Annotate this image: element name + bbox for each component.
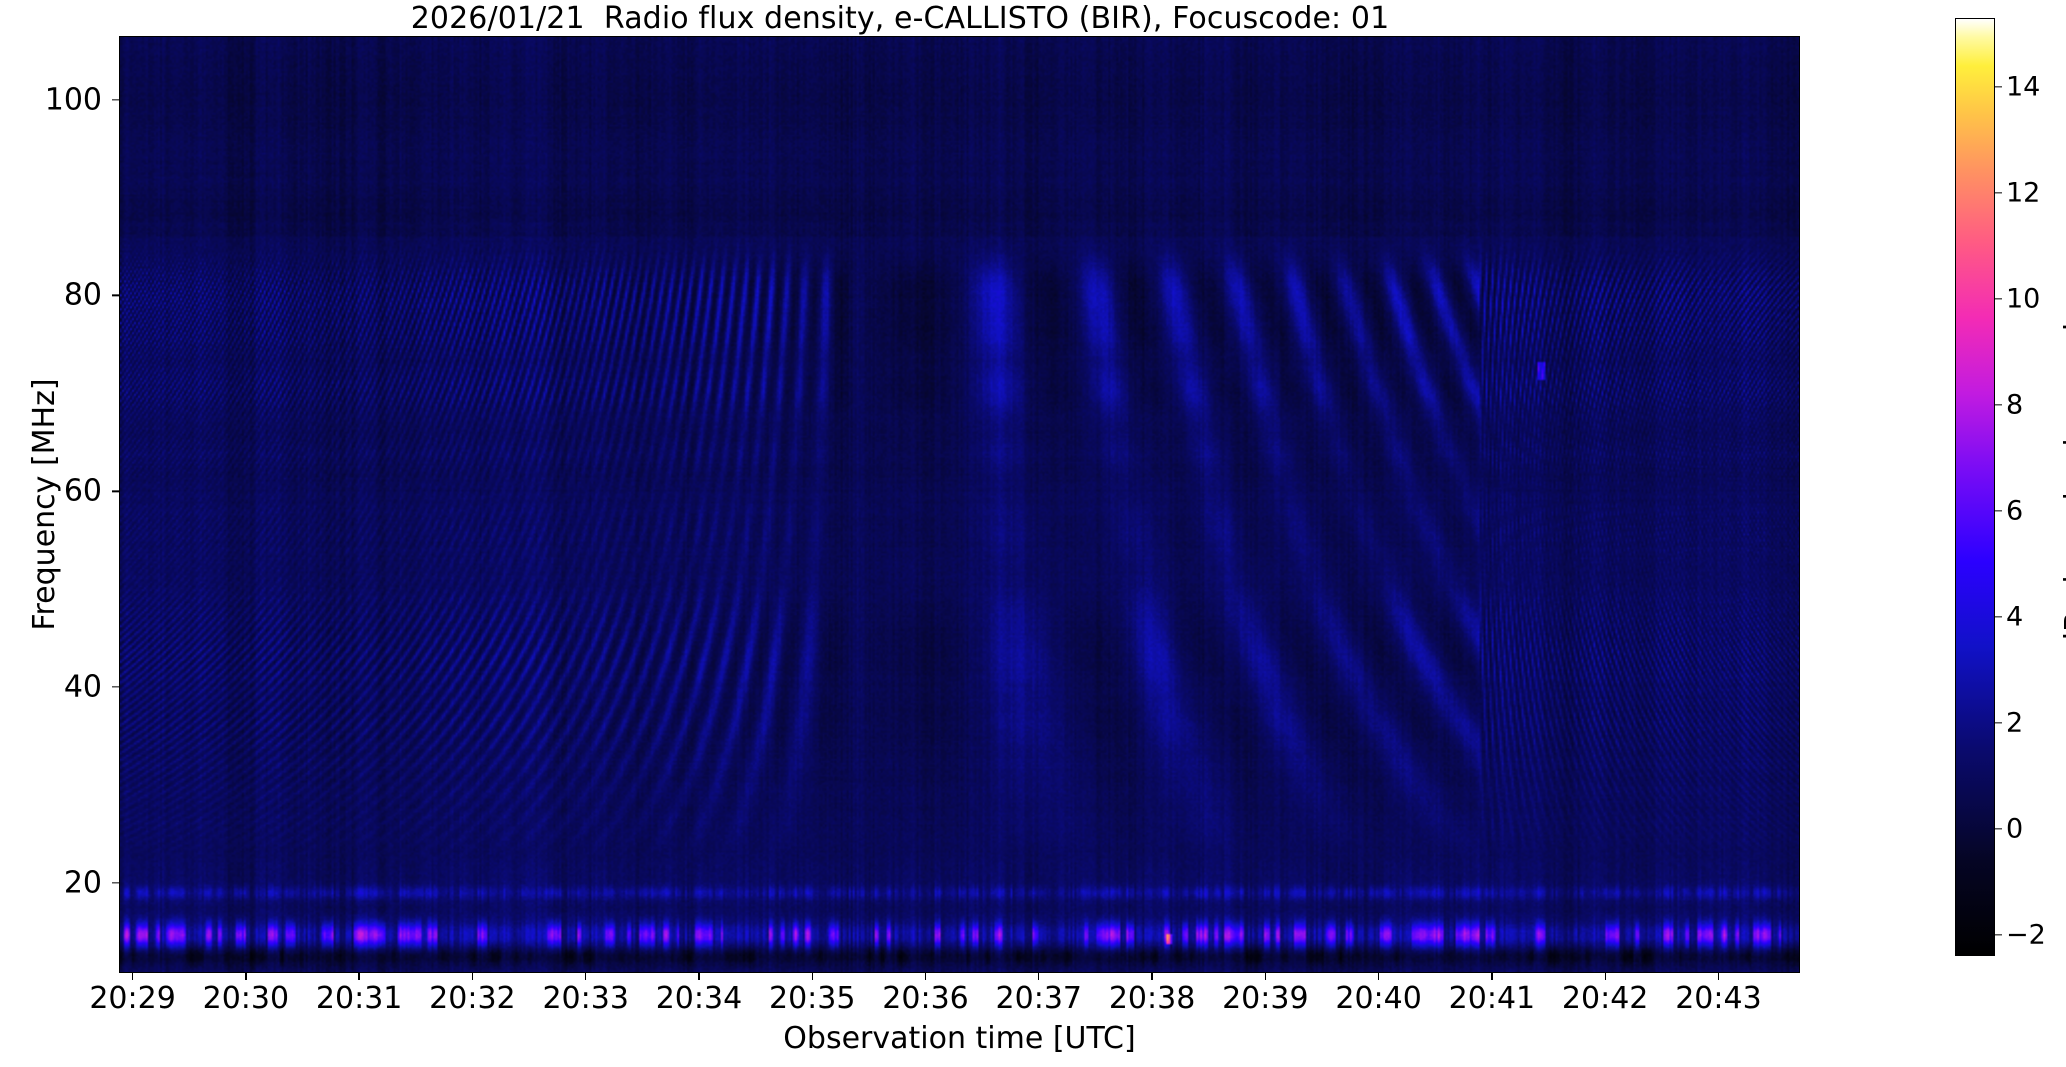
colorbar-tick-mark [1995, 510, 2002, 511]
x-tick-label: 20:41 [1449, 981, 1535, 1016]
y-tick-label: 40 [10, 670, 102, 705]
x-tick-mark [1605, 973, 1606, 980]
page-title: 2026/01/21 Radio flux density, e-CALLIST… [0, 0, 1800, 36]
colorbar-tick-mark [1995, 192, 2002, 193]
x-tick-mark [358, 973, 359, 980]
colorbar-tick-mark [1995, 616, 2002, 617]
x-tick-mark [812, 973, 813, 980]
spectrogram-plot[interactable] [119, 36, 1800, 973]
x-tick-label: 20:34 [656, 981, 742, 1016]
x-tick-label: 20:30 [203, 981, 289, 1016]
y-tick-mark [112, 491, 119, 492]
y-tick-mark [112, 686, 119, 687]
x-tick-mark [132, 973, 133, 980]
x-tick-mark [1038, 973, 1039, 980]
x-tick-mark [472, 973, 473, 980]
y-tick-label: 20 [10, 865, 102, 900]
x-tick-label: 20:40 [1335, 981, 1421, 1016]
x-tick-mark [1378, 973, 1379, 980]
colorbar-tick-mark [1995, 828, 2002, 829]
colorbar-tick-mark [1995, 298, 2002, 299]
colorbar-tick-label: 2 [2006, 707, 2023, 738]
colorbar-tick-label: 10 [2006, 283, 2040, 314]
x-tick-label: 20:37 [996, 981, 1082, 1016]
x-tick-label: 20:31 [316, 981, 402, 1016]
x-tick-label: 20:39 [1222, 981, 1308, 1016]
x-tick-label: 20:35 [769, 981, 855, 1016]
colorbar-tick-label: 0 [2006, 813, 2023, 844]
colorbar-tick-mark [1995, 934, 2002, 935]
colorbar-label: dB above background [2056, 18, 2066, 956]
spectrogram-figure: 2026/01/21 Radio flux density, e-CALLIST… [0, 0, 2066, 1067]
colorbar-tick-label: 8 [2006, 389, 2023, 420]
x-tick-mark [698, 973, 699, 980]
x-tick-label: 20:42 [1562, 981, 1648, 1016]
x-tick-mark [1718, 973, 1719, 980]
x-tick-mark [245, 973, 246, 980]
colorbar-tick-label: 6 [2006, 495, 2023, 526]
x-tick-label: 20:33 [542, 981, 628, 1016]
spectrogram-canvas [120, 37, 1799, 972]
x-tick-label: 20:43 [1675, 981, 1761, 1016]
colorbar[interactable] [1955, 18, 1995, 956]
x-tick-mark [925, 973, 926, 980]
colorbar-tick-label: 4 [2006, 601, 2023, 632]
colorbar-tick-label: 12 [2006, 177, 2040, 208]
y-tick-mark [112, 882, 119, 883]
x-tick-mark [1265, 973, 1266, 980]
colorbar-tick-label: 14 [2006, 71, 2040, 102]
x-tick-mark [1151, 973, 1152, 980]
x-tick-label: 20:32 [429, 981, 515, 1016]
x-tick-label: 20:36 [882, 981, 968, 1016]
x-tick-label: 20:29 [89, 981, 175, 1016]
y-tick-mark [112, 295, 119, 296]
colorbar-tick-label: −2 [2006, 919, 2046, 950]
colorbar-tick-mark [1995, 404, 2002, 405]
x-axis-label: Observation time [UTC] [119, 1021, 1800, 1056]
x-tick-label: 20:38 [1109, 981, 1195, 1016]
y-tick-label: 80 [10, 278, 102, 313]
y-tick-label: 60 [10, 474, 102, 509]
x-tick-mark [585, 973, 586, 980]
x-tick-mark [1491, 973, 1492, 980]
y-tick-mark [112, 99, 119, 100]
y-tick-label: 100 [10, 82, 102, 117]
colorbar-tick-mark [1995, 722, 2002, 723]
colorbar-gradient [1956, 19, 1994, 955]
colorbar-tick-mark [1995, 86, 2002, 87]
